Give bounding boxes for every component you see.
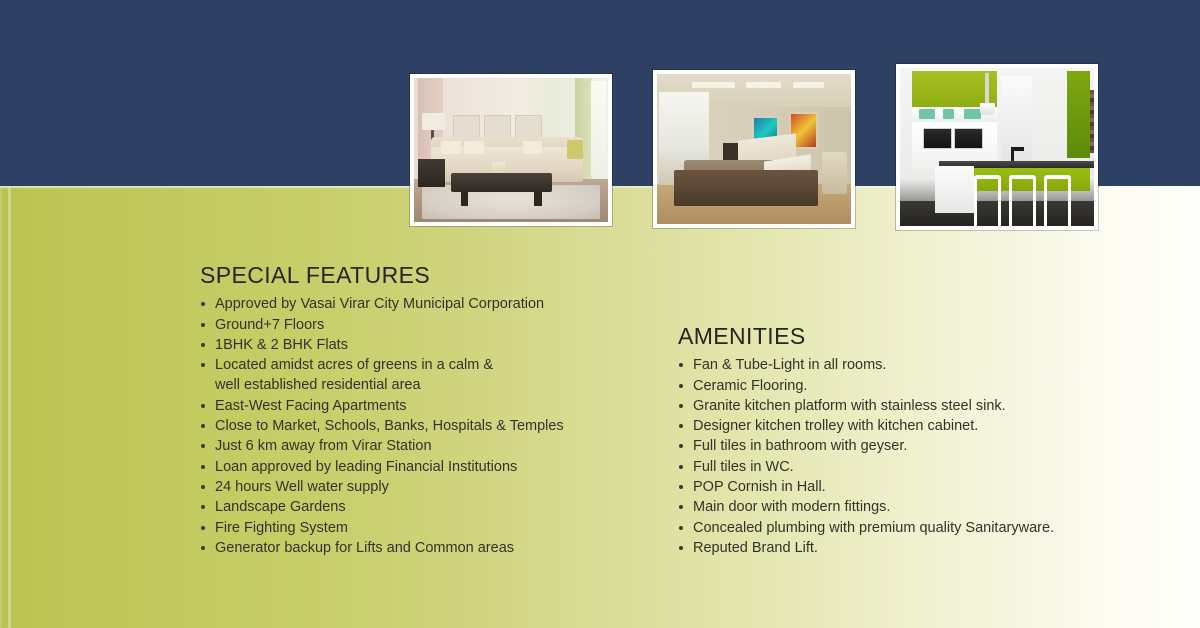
kitchen-island-white [935,166,974,213]
living-room-window [591,81,607,176]
coffee-table-leg-right [534,192,542,206]
cushion-yellow-throw [567,140,583,159]
amenities-section: AMENITIES Fan & Tube-Light in all rooms.… [678,324,1148,558]
coffee-table [451,173,552,192]
bed-platform-base [674,170,818,206]
brochure-page: SPECIAL FEATURES Approved by Vasai Virar… [0,0,1200,628]
ceiling-light-strip-2 [746,82,781,88]
list-item: Close to Market, Schools, Banks, Hospita… [200,416,640,436]
special-features-list: Approved by Vasai Virar City Municipal C… [200,294,640,558]
cushion-2 [464,141,483,154]
living-room-photo [410,74,612,226]
cushion-1 [441,141,460,154]
shelf-item-1 [919,109,935,118]
list-item: Generator backup for Lifts and Common ar… [200,538,640,558]
bedroom-photo [653,70,855,228]
kitchen-photo [896,64,1098,230]
list-item: Concealed plumbing with premium quality … [678,518,1148,538]
kitchen-side-cabinet-green [1067,71,1090,158]
special-features-section: SPECIAL FEATURES Approved by Vasai Virar… [200,263,640,558]
list-item: Granite kitchen platform with stainless … [678,396,1148,416]
shelf-item-2 [943,109,955,118]
cushion-3 [523,141,542,154]
list-item: 24 hours Well water supply [200,477,640,497]
list-item: 1BHK & 2 BHK Flats [200,335,640,355]
list-item: Main door with modern fittings. [678,497,1148,517]
list-item: Located amidst acres of greens in a calm… [200,355,640,396]
left-edge-stripe [8,188,11,628]
side-table [418,159,445,188]
pendant-light-shade [980,103,996,116]
list-item: Reputed Brand Lift. [678,538,1148,558]
list-item: Just 6 km away from Virar Station [200,436,640,456]
bedroom-chair [822,152,847,194]
list-item: East-West Facing Apartments [200,396,640,416]
built-in-oven [923,128,952,149]
special-features-title: SPECIAL FEATURES [200,263,640,288]
list-item: Designer kitchen trolley with kitchen ca… [678,416,1148,436]
list-item: POP Cornish in Hall. [678,477,1148,497]
amenities-title: AMENITIES [678,324,1148,349]
list-item: Fan & Tube-Light in all rooms. [678,355,1148,375]
list-item: Full tiles in WC. [678,457,1148,477]
ceiling-light-strip-3 [793,82,824,88]
list-item: Full tiles in bathroom with geyser. [678,436,1148,456]
floor-lamp-shade [422,113,445,130]
bar-stool-1 [974,175,1001,226]
bar-stool-3 [1044,175,1071,226]
list-item: Loan approved by leading Financial Insti… [200,457,640,477]
built-in-microwave [954,128,983,149]
kitchen-faucet-spout [1011,147,1025,151]
bar-stool-2 [1009,175,1036,226]
list-item: Ceramic Flooring. [678,376,1148,396]
ceiling-light-strip-1 [692,82,735,88]
list-item: Landscape Gardens [200,497,640,517]
amenities-list: Fan & Tube-Light in all rooms. Ceramic F… [678,355,1148,558]
shelf-item-3 [964,109,981,118]
coffee-table-leg-left [461,192,469,206]
left-edge-stripe-outer [0,188,2,628]
list-item: Ground+7 Floors [200,315,640,335]
list-item: Fire Fighting System [200,518,640,538]
list-item: Approved by Vasai Virar City Municipal C… [200,294,640,314]
